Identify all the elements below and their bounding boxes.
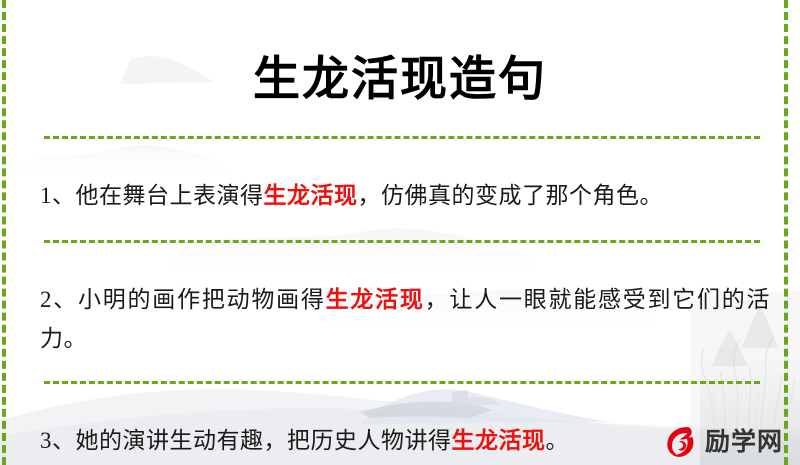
divider-after-sentence-2	[44, 381, 760, 384]
sentence-1-index: 1、	[40, 183, 76, 208]
divider-top	[44, 136, 760, 139]
border-dashed-left	[2, 0, 6, 465]
border-dashed-right	[784, 0, 788, 465]
page-root: 生龙活现造句 1、他在舞台上表演得生龙活现，仿佛真的变成了那个角色。 2、小明的…	[0, 0, 800, 465]
sentence-2-highlight: 生龙活现	[326, 287, 425, 312]
sentence-item-2: 2、小明的画作把动物画得生龙活现，让人一眼就能感受到它们的活力。	[22, 266, 778, 358]
sentence-1-after: ，仿佛真的变成了那个角色。	[358, 183, 664, 208]
sentence-2-index: 2、	[40, 287, 78, 312]
red-swirl-logo-icon	[660, 421, 700, 461]
divider-after-sentence-1	[44, 240, 760, 243]
sentence-3-index: 3、	[40, 428, 76, 453]
page-title: 生龙活现造句	[22, 31, 778, 104]
site-watermark-logo: 励学网	[660, 419, 790, 463]
sentence-3-highlight: 生龙活现	[452, 428, 546, 453]
sentence-1-highlight: 生龙活现	[264, 183, 358, 208]
sentence-3-before: 她的演讲生动有趣，把历史人物讲得	[76, 428, 452, 453]
sentence-1-before: 他在舞台上表演得	[76, 183, 264, 208]
sentence-item-1: 1、他在舞台上表演得生龙活现，仿佛真的变成了那个角色。	[22, 162, 778, 215]
site-watermark-label: 励学网	[705, 429, 783, 454]
sentence-3-after: 。	[546, 428, 570, 453]
sentence-2-before: 小明的画作把动物画得	[78, 287, 326, 312]
content-area: 生龙活现造句 1、他在舞台上表演得生龙活现，仿佛真的变成了那个角色。 2、小明的…	[0, 31, 800, 465]
